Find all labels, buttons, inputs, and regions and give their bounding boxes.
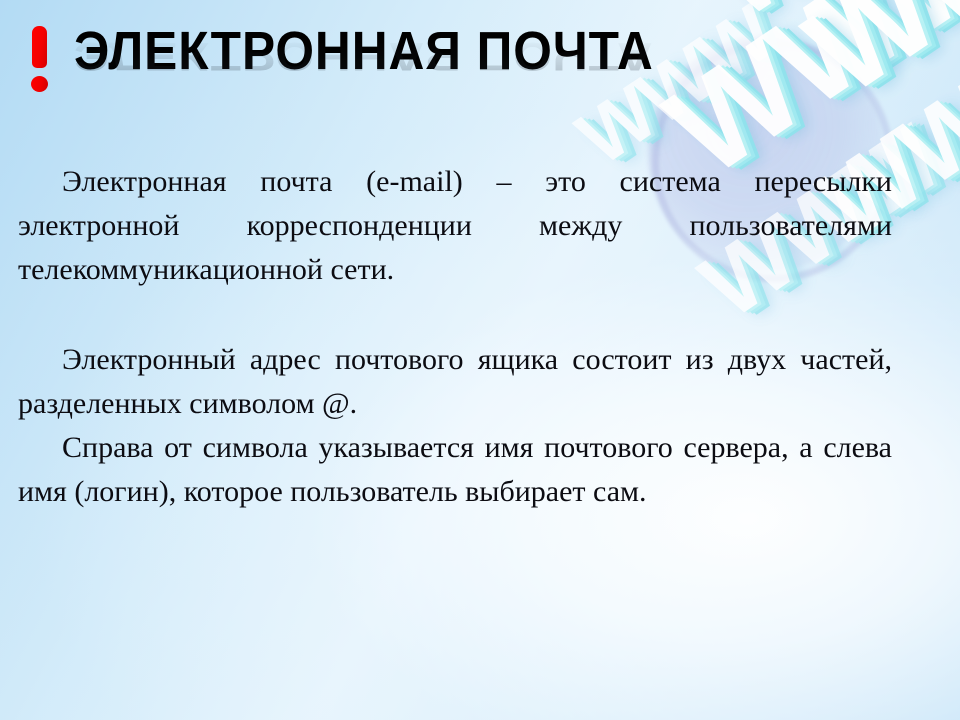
slide-title-block: ЭЛЕКТРОННАЯ ПОЧТА ЭЛЕКТРОННАЯ ПОЧТА bbox=[30, 22, 704, 118]
paragraph-spacer bbox=[18, 292, 892, 338]
page-title-reflection: ЭЛЕКТРОННАЯ ПОЧТА bbox=[74, 35, 654, 78]
slide-body: Электронная почта (e-mail) – это система… bbox=[18, 160, 892, 514]
exclamation-stem bbox=[32, 26, 47, 68]
slide-canvas: WWW WWW WWW WWW WWW WWW ЭЛЕКТРОННАЯ ПОЧТ… bbox=[0, 0, 960, 720]
paragraph-definition: Электронная почта (e-mail) – это система… bbox=[18, 160, 892, 292]
www-letter-icon: WWW bbox=[710, 0, 948, 27]
www-letter-icon: WWW bbox=[792, 0, 960, 109]
paragraph-address-parts: Электронный адрес почтового ящика состои… bbox=[18, 338, 892, 426]
exclamation-dot bbox=[31, 76, 48, 92]
title-text-wrap: ЭЛЕКТРОННАЯ ПОЧТА ЭЛЕКТРОННАЯ ПОЧТА bbox=[74, 22, 704, 136]
red-exclamation-icon bbox=[30, 26, 52, 94]
paragraph-address-sides: Справа от символа указывается имя почтов… bbox=[18, 426, 892, 514]
